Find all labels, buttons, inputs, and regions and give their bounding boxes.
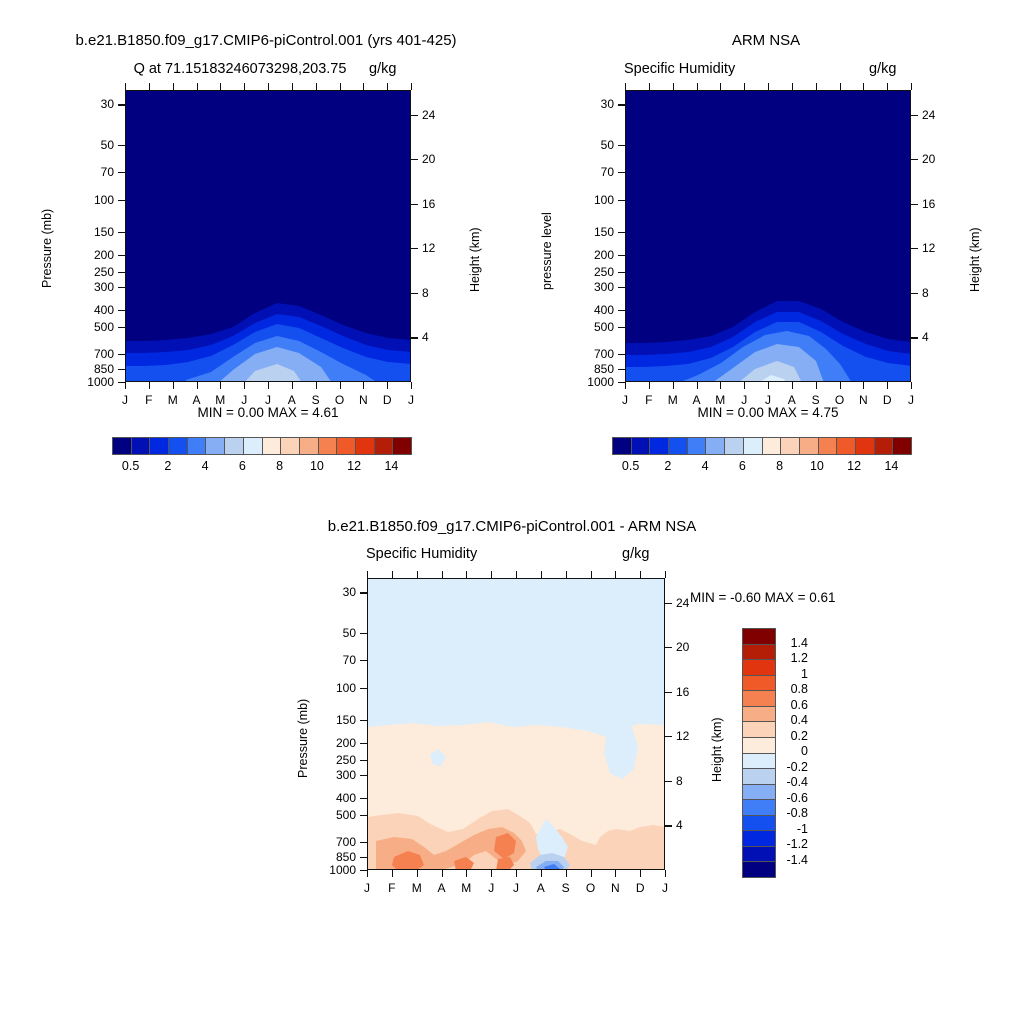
panel-diff-xtick-bottom [640,870,641,877]
panel-model-ytick-left [118,172,125,173]
panel-obs-ytick-label-left: 30 [601,97,614,111]
colorbar-segment [132,438,151,454]
panel-model-xtick-bottom [268,382,269,389]
panel-diff-xtick-top [491,571,492,578]
colorbar-segment [893,438,911,454]
panel-obs-xtick-label: J [741,393,747,407]
panel-diff-xtick-top [516,571,517,578]
panel-diff-ytick-left [360,870,367,871]
panel-model-subtitle-left: Q at 71.15183246073298,203.75 [134,61,347,77]
colorbar-segment [743,785,775,801]
panel-model-ytick-label-right: 4 [422,330,429,344]
panel-model-xtick-label: A [192,393,200,407]
colorbar-segment [875,438,894,454]
panel-obs-xtick-label: J [765,393,771,407]
panel-diff-xtick-bottom [516,870,517,877]
colorbar-segment [743,769,775,785]
panel-obs-ytick-label-left: 70 [601,165,614,179]
panel-model-xtick-top [316,83,317,90]
colorbar-label: 10 [310,459,324,473]
colorbar-segment [263,438,282,454]
colorbar-segment [188,438,207,454]
panel-diff-ytick-right [665,647,672,648]
panel-model-xtick-bottom [340,382,341,389]
panel-obs-xtick-label: S [812,393,820,407]
colorbar-segment [743,738,775,754]
panel-model-plot[interactable] [125,90,411,382]
panel-diff-xtick-top [392,571,393,578]
panel-obs-ytick-right [911,204,918,205]
panel-obs-ytick-left [618,172,625,173]
panel-model-minmax: MIN = 0.00 MAX = 4.61 [197,405,338,420]
panel-diff-xtick-label: F [388,881,395,895]
panel-obs-title: ARM NSA [732,32,800,49]
panel-diff-xtick-label: D [636,881,645,895]
panel-diff-minmax: MIN = -0.60 MAX = 0.61 [690,590,836,605]
panel-diff-xtick-bottom [367,870,368,877]
panel-model-xtick-label: N [359,393,368,407]
panel-diff-ytick-left [360,760,367,761]
panel-model-xtick-top [292,83,293,90]
panel-diff-ytick-label-right: 12 [676,729,689,743]
panel-obs-ytick-left [618,272,625,273]
panel-diff-xtick-top [466,571,467,578]
panel-diff-ytick-left [360,775,367,776]
colorbar-segment [743,722,775,738]
panel-obs-xtick-label: A [692,393,700,407]
colorbar-segment [743,707,775,723]
panel-obs-ytick-right [911,248,918,249]
panel-diff-ytick-left [360,633,367,634]
panel-obs-xtick-bottom [768,382,769,389]
panel-diff-xtick-label: A [437,881,445,895]
panel-model-xtick-top [173,83,174,90]
panel-model-ytick-right [411,248,418,249]
panel-obs-xtick-top [625,83,626,90]
panel-model-xtick-bottom [316,382,317,389]
panel-model-ytick-label-left: 300 [94,280,114,294]
panel-model-xtick-bottom [292,382,293,389]
colorbar-label: -1.4 [786,853,808,867]
panel-obs-xtick-bottom [673,382,674,389]
panel-model-xtick-label: F [145,393,152,407]
panel-obs-ytick-label-left: 250 [594,265,614,279]
panel-diff-colorbar[interactable] [742,628,776,878]
colorbar-segment [632,438,651,454]
panel-obs-ytick-left [618,200,625,201]
panel-model-xtick-top [125,83,126,90]
colorbar-label: 1 [801,667,808,681]
panel-diff-xtick-label: J [662,881,668,895]
colorbar-segment [150,438,169,454]
panel-diff-ytick-left [360,857,367,858]
panel-model-ytick-left [118,255,125,256]
colorbar-label: -0.2 [786,760,808,774]
panel-model-xtick-label: M [168,393,178,407]
panel-model-ytick-label-left: 850 [94,362,114,376]
panel-obs-ytick-right [911,115,918,116]
panel-model-ytick-label-right: 16 [422,197,435,211]
colorbar-segment [837,438,856,454]
colorbar-label: -1.2 [786,837,808,851]
colorbar-segment [725,438,744,454]
panel-model-ytick-label-left: 30 [101,97,114,111]
panel-diff-ytick-label-left: 850 [336,850,356,864]
panel-obs-ytick-label-right: 12 [922,241,935,255]
panel-diff-ytick-label-left: 300 [336,768,356,782]
panel-model-xtick-bottom [220,382,221,389]
colorbar-label: 8 [776,459,783,473]
colorbar-label: -0.8 [786,806,808,820]
panel-model-xtick-label: J [408,393,414,407]
panel-obs-xtick-top [649,83,650,90]
panel-obs-xtick-label: D [883,393,892,407]
colorbar-segment [744,438,763,454]
panel-obs-colorbar[interactable] [612,437,912,455]
colorbar-segment [743,629,775,645]
colorbar-label: 2 [164,459,171,473]
panel-diff-xtick-top [566,571,567,578]
panel-obs-ytick-label-left: 500 [594,320,614,334]
colorbar-label: 0.5 [122,459,139,473]
panel-obs-ytick-label-right: 24 [922,108,935,122]
panel-obs-xtick-label: N [859,393,868,407]
panel-obs-minmax: MIN = 0.00 MAX = 4.75 [697,405,838,420]
panel-model-ytick-left [118,354,125,355]
colorbar-label: 1.2 [791,651,808,665]
panel-diff-ytick-label-right: 24 [676,596,689,610]
panel-obs-ylabel-right: Height (km) [968,227,982,292]
colorbar-label: 0.8 [791,682,808,696]
colorbar-segment [706,438,725,454]
panel-model-xtick-bottom [125,382,126,389]
panel-obs-contours [626,91,911,382]
panel-model-ylabel-right: Height (km) [468,227,482,292]
panel-model-ytick-left [118,145,125,146]
panel-model-ytick-label-left: 50 [101,138,114,152]
panel-diff-ytick-label-left: 700 [336,835,356,849]
panel-obs-xtick-bottom [744,382,745,389]
panel-diff-xtick-label: O [586,881,595,895]
panel-model-ytick-right [411,293,418,294]
panel-diff-xtick-top [541,571,542,578]
panel-model-xtick-bottom [149,382,150,389]
colorbar-label: 0.5 [622,459,639,473]
colorbar-label: 14 [884,459,898,473]
panel-obs-xtick-label: A [788,393,796,407]
panel-obs-xtick-bottom [816,382,817,389]
panel-diff-ytick-label-left: 150 [336,713,356,727]
panel-model-ytick-right [411,337,418,338]
panel-model-ytick-label-left: 1000 [87,375,114,389]
panel-model-ytick-left [118,272,125,273]
colorbar-segment [613,438,632,454]
panel-diff-units: g/kg [622,546,649,562]
panel-obs-xtick-top [768,83,769,90]
panel-obs-ytick-label-right: 4 [922,330,929,344]
panel-model-ytick-label-right: 24 [422,108,435,122]
panel-model-colorbar[interactable] [112,437,412,455]
colorbar-segment [688,438,707,454]
panel-obs-ytick-label-right: 20 [922,152,935,166]
panel-diff-xtick-label: S [562,881,570,895]
panel-model-ytick-left [118,200,125,201]
panel-model-xtick-bottom [411,382,412,389]
colorbar-segment [206,438,225,454]
panel-obs-ylabel-left: pressure level [540,212,554,290]
panel-obs-xtick-label: J [622,393,628,407]
panel-model-xtick-label: S [312,393,320,407]
panel-model-ytick-left [118,104,125,105]
colorbar-segment [781,438,800,454]
colorbar-label: -0.6 [786,791,808,805]
colorbar-segment [300,438,319,454]
colorbar-label: 10 [810,459,824,473]
panel-model-ytick-label-left: 150 [94,225,114,239]
colorbar-segment [743,800,775,816]
panel-model-title: b.e21.B1850.f09_g17.CMIP6-piControl.001 … [75,32,456,49]
colorbar-label: 8 [276,459,283,473]
panel-model-xtick-bottom [244,382,245,389]
panel-obs-ytick-label-left: 100 [594,193,614,207]
panel-obs-ytick-label-left: 850 [594,362,614,376]
panel-obs-ytick-left [618,327,625,328]
panel-model-xtick-top [244,83,245,90]
panel-model-xtick-top [268,83,269,90]
panel-obs-ytick-label-left: 300 [594,280,614,294]
colorbar-segment [743,816,775,832]
panel-model-xtick-top [387,83,388,90]
panel-diff-ytick-label-right: 4 [676,818,683,832]
panel-obs-xtick-top [840,83,841,90]
panel-diff-xtick-top [615,571,616,578]
panel-diff-ytick-label-left: 250 [336,753,356,767]
panel-model-xtick-label: J [122,393,128,407]
panel-obs-ytick-left [618,382,625,383]
panel-obs-ytick-left [618,369,625,370]
panel-diff-ytick-right [665,692,672,693]
panel-obs-xtick-top [887,83,888,90]
panel-diff-ytick-label-right: 8 [676,774,683,788]
panel-obs-xtick-top [720,83,721,90]
panel-model-units: g/kg [369,61,396,77]
panel-model-ytick-right [411,115,418,116]
panel-diff-ytick-label-left: 200 [336,736,356,750]
colorbar-segment [800,438,819,454]
panel-model-xtick-bottom [387,382,388,389]
panel-diff-ytick-label-left: 30 [343,585,356,599]
panel-model-xtick-bottom [197,382,198,389]
panel-obs-xtick-bottom [792,382,793,389]
panel-obs-xtick-label: J [908,393,914,407]
panel-model-xtick-top [411,83,412,90]
panel-diff-xtick-bottom [417,870,418,877]
panel-model-ytick-left [118,382,125,383]
panel-obs-ytick-right [911,159,918,160]
panel-model-xtick-bottom [173,382,174,389]
panel-obs-ytick-label-right: 16 [922,197,935,211]
colorbar-label: 4 [702,459,709,473]
panel-diff-xtick-label: A [537,881,545,895]
panel-diff-xtick-bottom [665,870,666,877]
panel-diff-ytick-label-left: 400 [336,791,356,805]
panel-model-ytick-label-right: 20 [422,152,435,166]
panel-obs-xtick-bottom [625,382,626,389]
panel-model-contours [126,91,411,382]
panel-diff-title: b.e21.B1850.f09_g17.CMIP6-piControl.001 … [328,518,697,535]
panel-obs-ytick-label-left: 400 [594,303,614,317]
colorbar-segment [669,438,688,454]
colorbar-label: 12 [847,459,861,473]
panel-obs-xtick-label: O [835,393,844,407]
panel-obs-ytick-right [911,293,918,294]
colorbar-segment [743,831,775,847]
colorbar-label: 4 [202,459,209,473]
panel-obs-ytick-label-left: 150 [594,225,614,239]
panel-diff-ytick-label-left: 1000 [329,863,356,877]
panel-model-ytick-left [118,327,125,328]
panel-obs-xtick-label: M [668,393,678,407]
panel-diff-ylabel-left: Pressure (mb) [296,699,310,778]
panel-diff-xtick-bottom [392,870,393,877]
colorbar-segment [743,676,775,692]
panel-diff-xtick-label: N [611,881,620,895]
panel-diff-ytick-label-right: 16 [676,685,689,699]
colorbar-segment [743,660,775,676]
panel-diff-ytick-left [360,660,367,661]
colorbar-segment [337,438,356,454]
colorbar-label: -0.4 [786,775,808,789]
colorbar-segment [244,438,263,454]
colorbar-label: 0 [801,744,808,758]
panel-obs-xtick-label: M [715,393,725,407]
colorbar-label: 0.4 [791,713,808,727]
panel-diff-xtick-top [417,571,418,578]
panel-obs-ytick-label-left: 700 [594,347,614,361]
colorbar-label: 0.2 [791,729,808,743]
panel-model-ytick-label-left: 500 [94,320,114,334]
panel-model-ytick-label-left: 100 [94,193,114,207]
panel-obs-ytick-label-right: 8 [922,286,929,300]
colorbar-segment [743,862,775,877]
panel-obs-xtick-bottom [649,382,650,389]
panel-model-xtick-top [149,83,150,90]
panel-obs-ytick-left [618,354,625,355]
panel-model-ytick-label-left: 400 [94,303,114,317]
panel-obs-xtick-bottom [911,382,912,389]
panel-diff-xtick-bottom [491,870,492,877]
colorbar-segment [319,438,338,454]
colorbar-segment [356,438,375,454]
panel-model-ytick-left [118,310,125,311]
panel-diff-ytick-right [665,603,672,604]
panel-model-xtick-label: A [288,393,296,407]
panel-model-xtick-label: M [215,393,225,407]
colorbar-label: 6 [239,459,246,473]
colorbar-label: -1 [797,822,808,836]
colorbar-segment [743,847,775,863]
panel-diff-xtick-label: J [513,881,519,895]
panel-obs-ytick-right [911,337,918,338]
colorbar-label: 12 [347,459,361,473]
panel-obs-plot[interactable] [625,90,911,382]
panel-diff-xtick-bottom [541,870,542,877]
panel-obs-xtick-bottom [720,382,721,389]
panel-obs-units: g/kg [869,61,896,77]
panel-model-xtick-label: O [335,393,344,407]
panel-diff-xtick-bottom [466,870,467,877]
panel-model-xtick-label: J [265,393,271,407]
panel-model-ylabel-left: Pressure (mb) [40,209,54,288]
panel-obs-ytick-left [618,104,625,105]
panel-model-ytick-label-left: 70 [101,165,114,179]
panel-diff-ytick-label-left: 100 [336,681,356,695]
panel-diff-ylabel-right: Height (km) [710,717,724,782]
colorbar-segment [113,438,132,454]
colorbar-segment [743,645,775,661]
panel-model-ytick-left [118,369,125,370]
panel-obs-xtick-top [911,83,912,90]
panel-diff-xtick-bottom [566,870,567,877]
panel-diff-ytick-left [360,592,367,593]
panel-diff-xtick-label: M [461,881,471,895]
panel-obs-xtick-top [697,83,698,90]
panel-diff-xtick-label: M [412,881,422,895]
panel-diff-xtick-label: J [364,881,370,895]
panel-obs-ytick-left [618,255,625,256]
panel-obs-ytick-label-left: 50 [601,138,614,152]
colorbar-label: 0.6 [791,698,808,712]
panel-model-ytick-label-left: 250 [94,265,114,279]
panel-diff-ytick-label-right: 20 [676,640,689,654]
colorbar-segment [743,754,775,770]
panel-model-ytick-left [118,287,125,288]
panel-model-ytick-left [118,232,125,233]
panel-diff-ytick-label-left: 50 [343,626,356,640]
panel-diff-ytick-left [360,815,367,816]
panel-obs-ytick-left [618,232,625,233]
panel-diff-xtick-bottom [442,870,443,877]
panel-model-xtick-top [220,83,221,90]
panel-obs-xtick-top [816,83,817,90]
panel-obs-xtick-bottom [697,382,698,389]
panel-model-ytick-label-right: 12 [422,241,435,255]
panel-obs-subtitle-left: Specific Humidity [624,61,735,77]
panel-model-ytick-right [411,159,418,160]
panel-diff-xtick-label: J [488,881,494,895]
panel-diff-xtick-top [591,571,592,578]
colorbar-segment [225,438,244,454]
panel-model-xtick-top [340,83,341,90]
panel-diff-ytick-right [665,825,672,826]
panel-model-xtick-label: J [241,393,247,407]
panel-obs-xtick-bottom [863,382,864,389]
panel-diff-plot[interactable] [367,578,665,870]
colorbar-label: 6 [739,459,746,473]
panel-diff-xtick-top [640,571,641,578]
panel-diff-ytick-left [360,842,367,843]
panel-obs-ytick-left [618,145,625,146]
colorbar-segment [169,438,188,454]
panel-diff-xtick-bottom [615,870,616,877]
panel-obs-ytick-left [618,287,625,288]
panel-diff-ytick-left [360,720,367,721]
panel-diff-xtick-top [442,571,443,578]
colorbar-segment [819,438,838,454]
panel-obs-xtick-label: F [645,393,652,407]
colorbar-segment [281,438,300,454]
panel-diff-contours [368,579,665,870]
